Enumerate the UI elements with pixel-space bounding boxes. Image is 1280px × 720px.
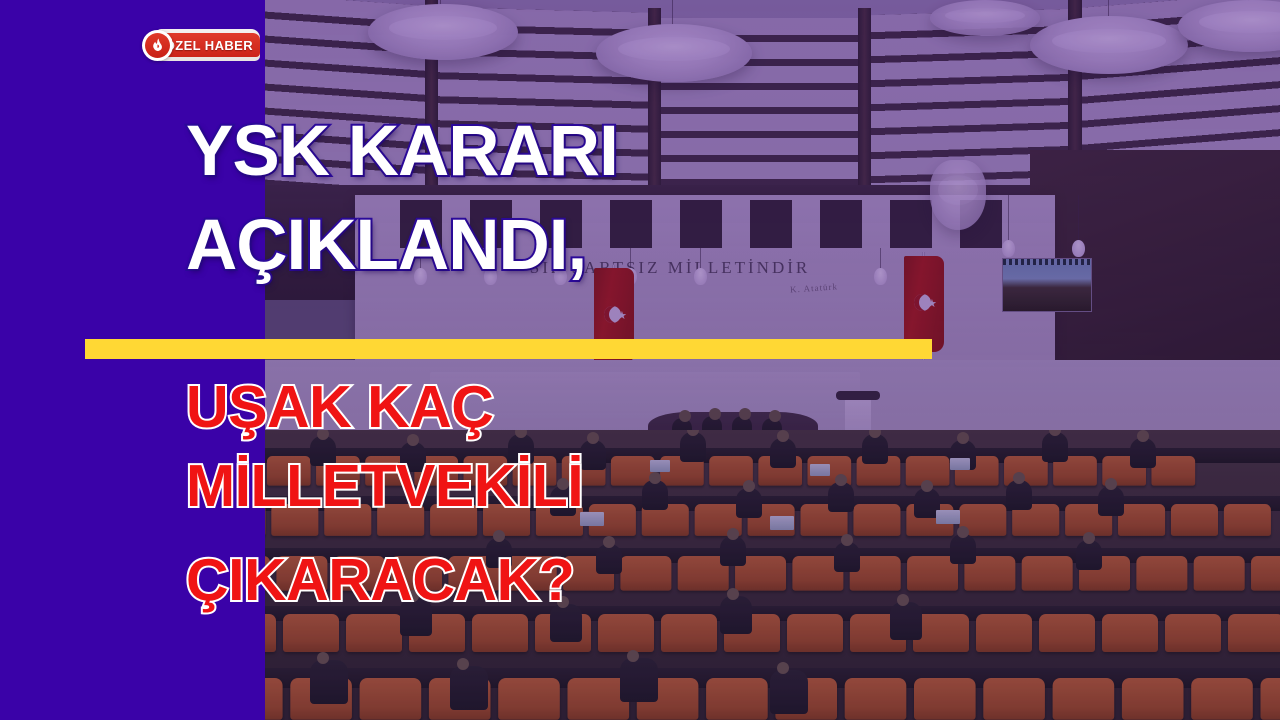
subheadline-line-2: MİLLETVEKİLİ (186, 457, 583, 516)
subheadline-line-1: UŞAK KAÇ (186, 378, 493, 437)
flame-icon (151, 38, 164, 53)
yellow-divider (85, 339, 932, 359)
headline-line-2: AÇIKLANDI, (186, 210, 586, 281)
badge-circle-inner (145, 33, 170, 58)
subheadline-line-3: ÇIKARACAK? (186, 551, 574, 610)
badge-circle (142, 30, 173, 61)
ozel-haber-badge[interactable]: ÖZEL HABER (142, 27, 260, 63)
news-thumbnail: SIZ ŞARTSIZ MİLLETİNDİR K. Atatürk (0, 0, 1280, 720)
badge-label: ÖZEL HABER (165, 38, 253, 53)
headline-line-1: YSK KARARI (186, 116, 618, 187)
badge-red-plate: ÖZEL HABER (162, 33, 260, 57)
